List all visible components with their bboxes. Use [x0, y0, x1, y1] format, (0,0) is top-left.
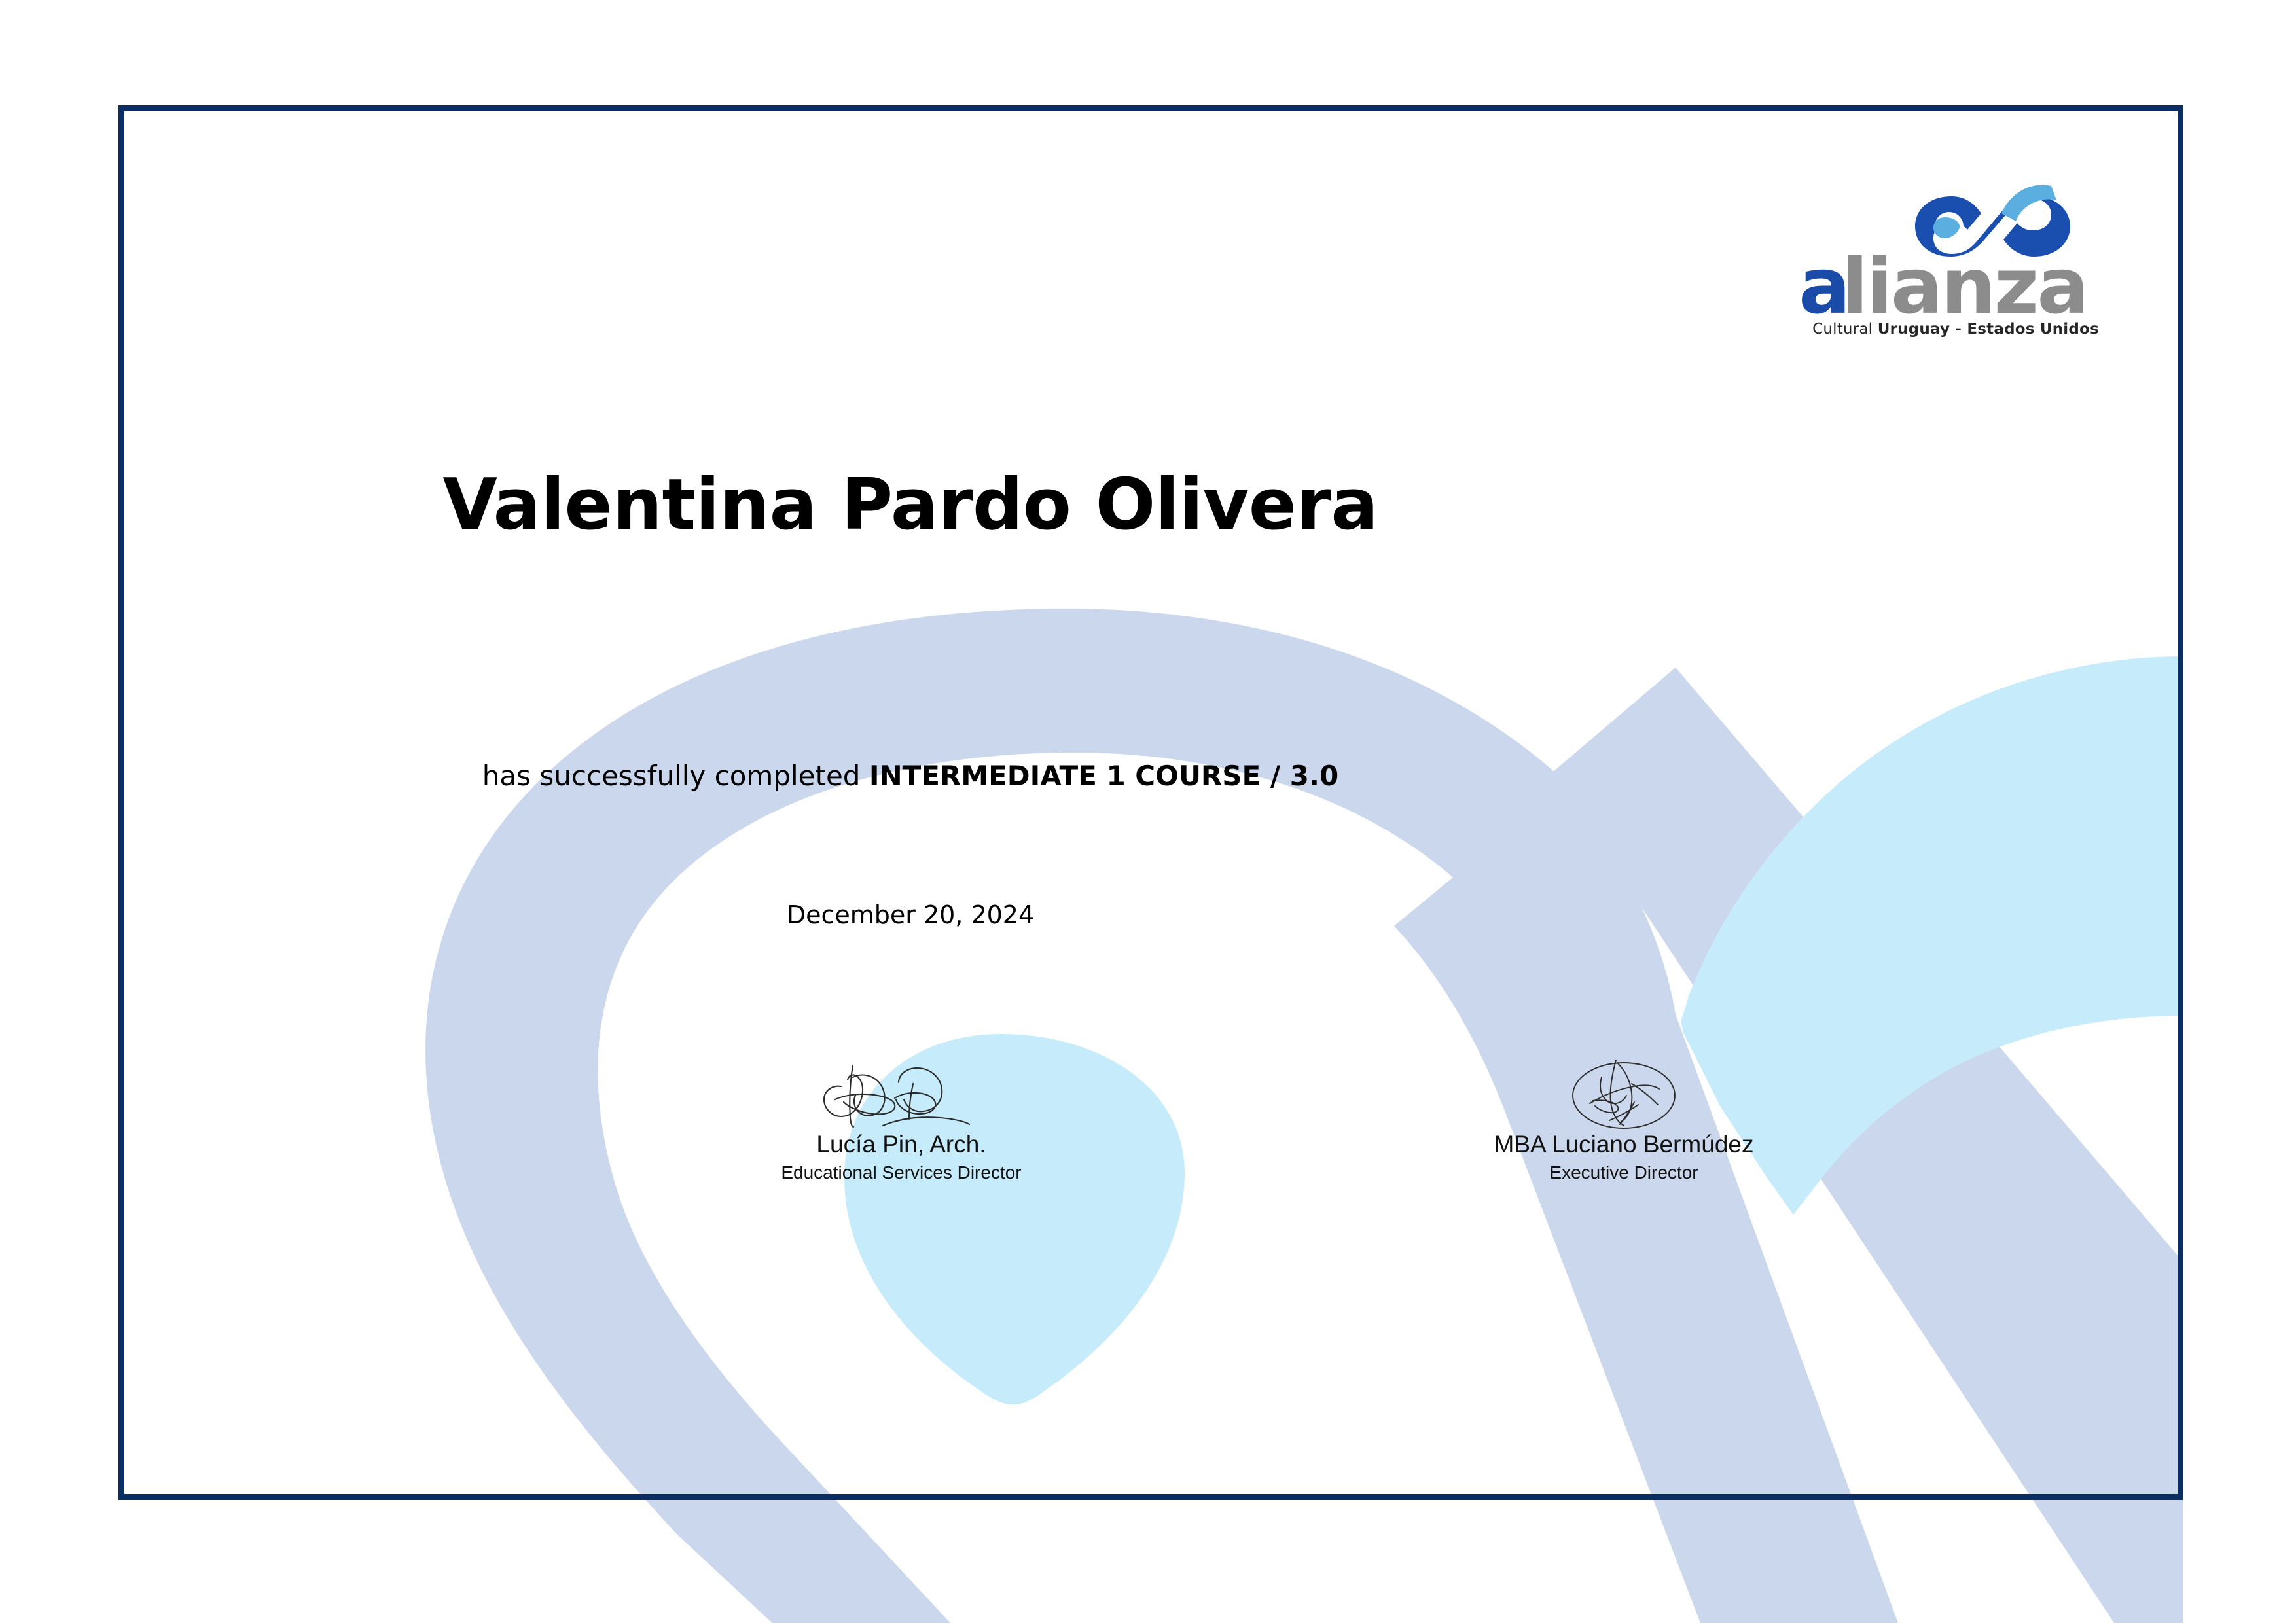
signature-name: Lucía Pin, Arch. [698, 1132, 1104, 1158]
certificate-content: Valentina Pardo Olivera has successfully… [118, 105, 2183, 1500]
completion-prefix: has successfully completed [482, 760, 869, 792]
signature-title: Educational Services Director [698, 1163, 1104, 1182]
completion-statement: has successfully completed INTERMEDIATE … [118, 760, 1702, 792]
recipient-name: Valentina Pardo Olivera [118, 470, 1702, 541]
signature-block-right: MBA Luciano Bermúdez Executive Director [1421, 1058, 1827, 1182]
signature-title: Executive Director [1421, 1163, 1827, 1182]
certificate-page: a lianza Cultural Uruguay - Estados Unid… [0, 0, 2296, 1623]
signature-luciano-bermudez-icon [1421, 1058, 1827, 1131]
signature-lucia-pin-icon [698, 1058, 1104, 1131]
issue-date: December 20, 2024 [118, 901, 1702, 929]
signature-name: MBA Luciano Bermúdez [1421, 1132, 1827, 1158]
course-name: INTERMEDIATE 1 COURSE / 3.0 [869, 760, 1338, 792]
signature-block-left: Lucía Pin, Arch. Educational Services Di… [698, 1058, 1104, 1182]
